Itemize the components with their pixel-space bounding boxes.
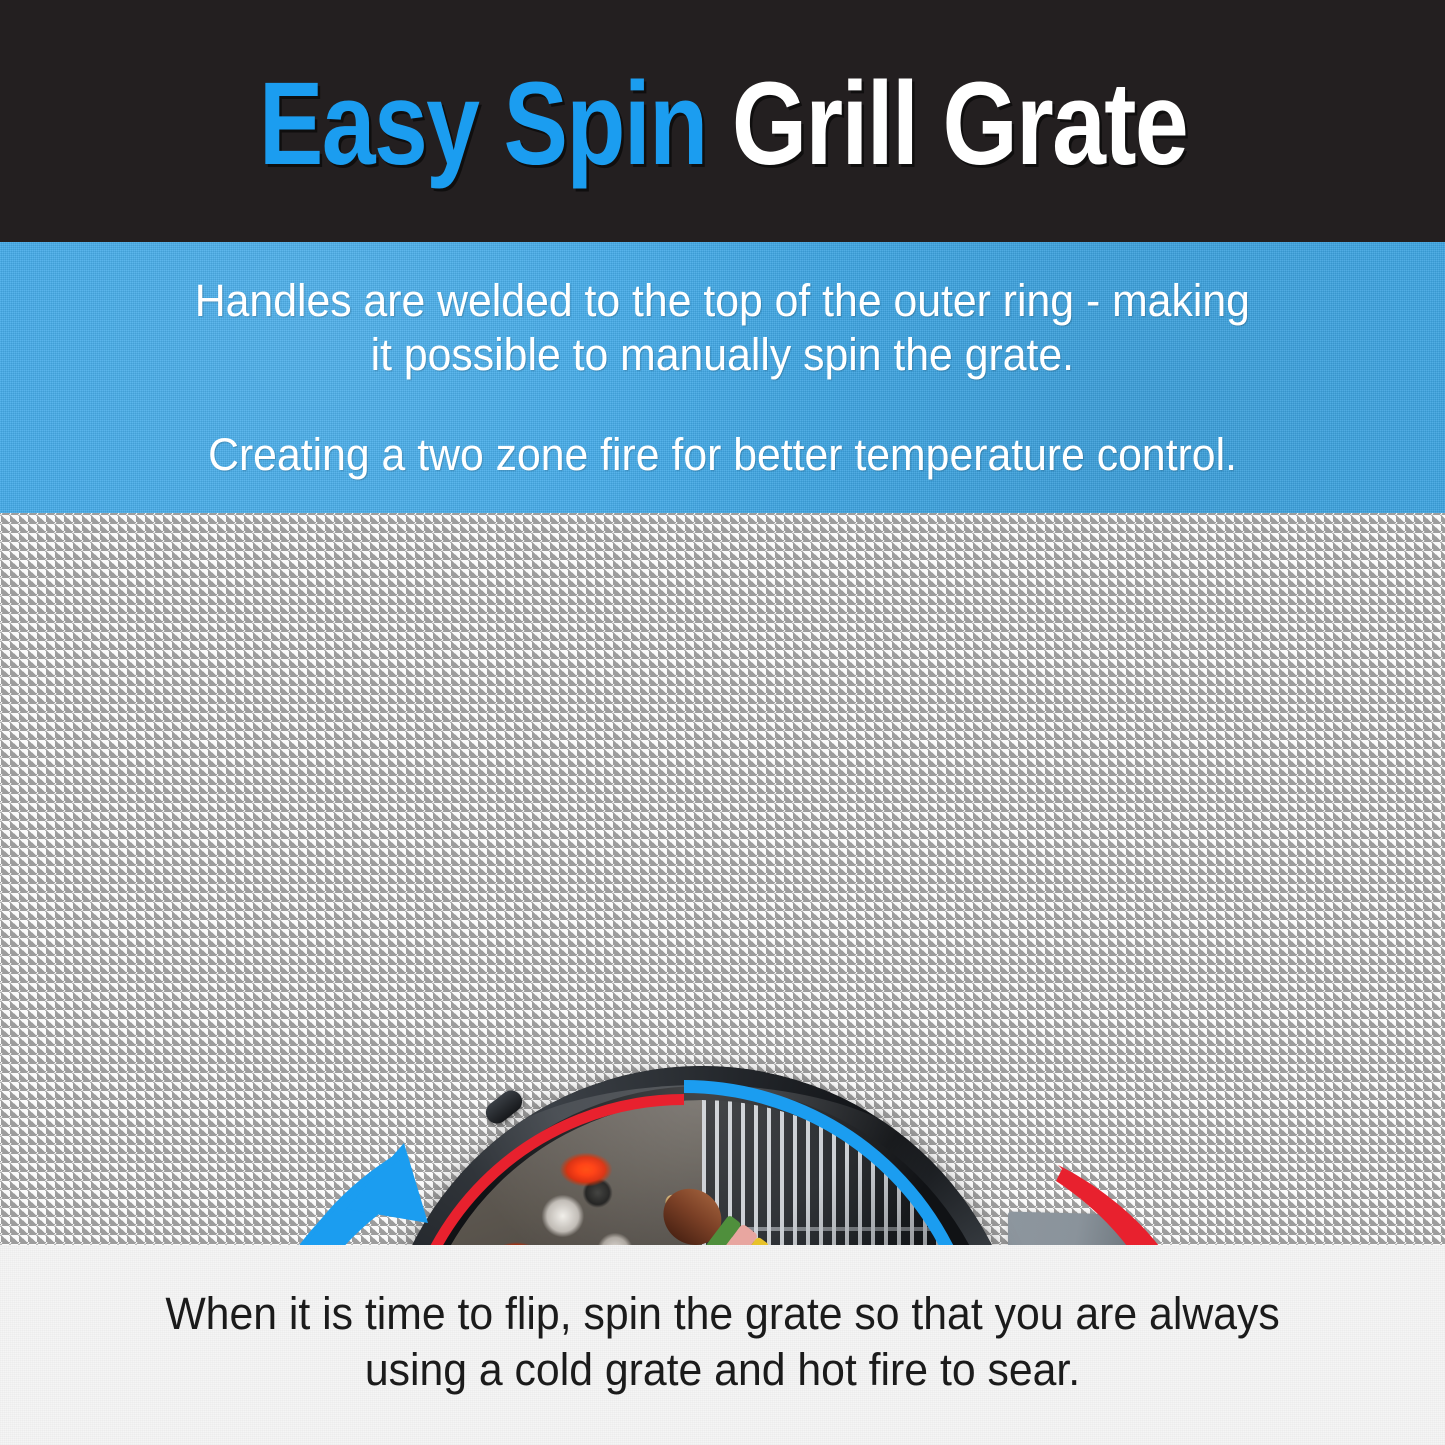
feature-description-banner: Handles are welded to the top of the out… <box>0 242 1445 513</box>
footer-caption: When it is time to flip, spin the grate … <box>0 1245 1445 1445</box>
footer-line-2: using a cold grate and hot fire to sear. <box>365 1342 1080 1398</box>
spin-arrow-left-icon <box>228 1137 458 1245</box>
kettle-body <box>378 1066 1026 1245</box>
banner-line-1: Handles are welded to the top of the out… <box>195 274 1250 328</box>
spin-arrow-right-icon <box>1018 1125 1278 1245</box>
charcoal-kettle-grill <box>360 1058 1060 1245</box>
banner-line-2: it possible to manually spin the grate. <box>195 328 1250 382</box>
header-banner: Easy Spin Grill Grate <box>0 0 1445 242</box>
product-infographic: Easy Spin Grill Grate Handles are welded… <box>0 0 1445 1445</box>
title-part-easy-spin: Easy Spin <box>258 58 706 190</box>
banner-paragraph-1: Handles are welded to the top of the out… <box>167 274 1278 382</box>
footer-line-1: When it is time to flip, spin the grate … <box>165 1286 1279 1342</box>
banner-paragraph-2: Creating a two zone fire for better temp… <box>181 428 1264 482</box>
product-photo <box>0 513 1445 1245</box>
banner-line-3: Creating a two zone fire for better temp… <box>208 428 1237 482</box>
title-part-grill-grate: Grill Grate <box>731 58 1186 190</box>
page-title: Easy Spin Grill Grate <box>258 65 1186 183</box>
